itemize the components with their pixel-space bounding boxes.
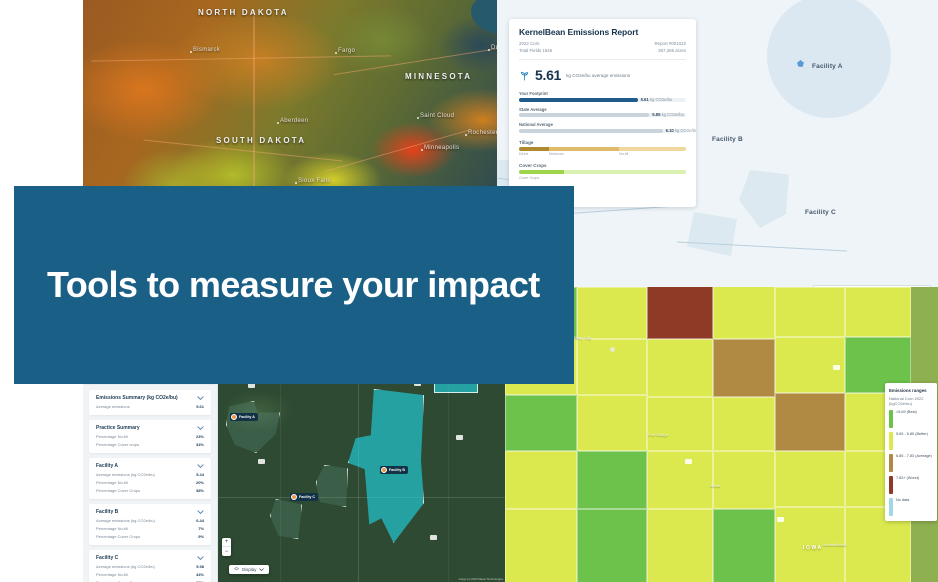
metric-label: Average emissions (kg CO2e/bu) — [96, 518, 155, 523]
state-label: NORTH DAKOTA — [198, 8, 289, 17]
metric-label: Percentage No-till — [96, 572, 128, 577]
report-acres: 367,285 acres — [658, 48, 686, 53]
chevron-down-icon[interactable] — [197, 426, 204, 430]
metric-label: Percentage Cover Crops — [96, 488, 140, 493]
benchmark-track: 6.10 kg CO2e/bu — [519, 129, 686, 133]
dashboard-card[interactable]: Practice SummaryPercentage No-till23%Per… — [89, 420, 211, 453]
card-title: Practice Summary — [96, 425, 140, 431]
county-polygon[interactable] — [505, 509, 577, 582]
map-attribution: Image (c) 2023 Maxar Technologies — [459, 577, 503, 581]
benchmark-label: National Average — [519, 122, 686, 127]
city-label: Ames — [710, 483, 720, 488]
county-polygon[interactable] — [775, 287, 845, 337]
county-polygon[interactable] — [647, 397, 713, 451]
emissions-legend: Emissions ranges National Corn 2022 (kgC… — [885, 383, 937, 521]
legend-title: Emissions ranges — [889, 388, 933, 394]
city-label: Sioux Falls — [298, 178, 331, 184]
county-polygon[interactable] — [713, 287, 775, 339]
card-metric-row: Average emissions (kg CO2e/bu)5.44 — [96, 472, 204, 477]
facility-label[interactable]: Facility C — [805, 209, 836, 216]
card-title: Facility A — [96, 463, 118, 469]
county-polygon[interactable] — [577, 287, 647, 339]
layers-icon — [234, 567, 239, 572]
tillage-segment-label: Direct — [519, 152, 549, 156]
city-dot — [421, 149, 423, 151]
pin-label: Facility B — [389, 468, 405, 472]
metric-value: 20% — [196, 480, 204, 485]
card-header[interactable]: Practice Summary — [96, 425, 204, 431]
hero-metric: 5.61 kg CO2e/bu average emissions — [519, 67, 686, 83]
card-metric-row: Average emissions5.61 — [96, 404, 204, 409]
field-outline-polygon[interactable] — [270, 499, 302, 539]
state-border-line — [253, 10, 255, 190]
banner-headline: Tools to measure your impact — [47, 265, 540, 305]
emissions-dashboard-panel[interactable]: Average Yield kg CO2e/bu Emissions Summa… — [83, 371, 218, 582]
county-shape — [687, 212, 737, 256]
facility-radius-circle — [767, 0, 891, 118]
facility-pin[interactable]: Facility A — [230, 413, 258, 421]
report-title: KernelBean Emissions Report — [519, 27, 686, 37]
hero-value: 5.61 — [535, 67, 561, 83]
city-dot — [465, 134, 467, 136]
cover-crops-legend: Cover Crops — [519, 176, 686, 180]
benchmark-track: 5.61 kg CO2e/bu — [519, 98, 686, 102]
legend-label: <5.69 (Best) — [896, 410, 917, 415]
city-dot — [295, 182, 297, 184]
benchmark-value: 6.10 kg CO2e/bu — [666, 128, 696, 133]
emissions-report-card[interactable]: KernelBean Emissions Report 2022 Corn Re… — [509, 19, 696, 207]
map-zoom-control[interactable]: + − — [222, 538, 231, 556]
county-polygon[interactable] — [775, 451, 845, 507]
dashboard-cards: Emissions Summary (kg CO2e/bu)Average em… — [83, 390, 217, 582]
tillage-title: Tillage — [519, 140, 686, 145]
metric-value: 5.98 — [196, 564, 204, 569]
metric-label: Percentage Cover crops — [96, 442, 139, 447]
county-polygon[interactable] — [647, 339, 713, 397]
legend-swatch — [889, 476, 893, 494]
county-polygon[interactable] — [577, 451, 647, 509]
card-header[interactable]: Emissions Summary (kg CO2e/bu) — [96, 395, 204, 401]
report-crop-year: 2022 Corn — [519, 41, 540, 46]
card-header[interactable]: Facility C — [96, 555, 204, 561]
county-polygon[interactable] — [647, 287, 713, 339]
county-polygon[interactable] — [505, 395, 577, 451]
field-outline-polygon[interactable] — [226, 401, 280, 453]
dashboard-card[interactable]: Facility CAverage emissions (kg CO2e/bu)… — [89, 550, 211, 582]
zoom-out-button[interactable]: − — [222, 547, 231, 556]
card-metric-row: Percentage No-till7% — [96, 526, 204, 531]
city-dot — [190, 51, 192, 53]
benchmark-label: State Average — [519, 107, 686, 112]
county-polygon[interactable] — [845, 287, 911, 337]
regional-emissions-heatmap[interactable]: NORTH DAKOTASOUTH DAKOTAMINNESOTAWISC Bi… — [83, 0, 497, 196]
city-label: Sioux City — [573, 335, 591, 340]
grid-line — [358, 371, 359, 582]
highway-shield-icon — [777, 517, 784, 522]
metric-label: Percentage Cover Crops — [96, 534, 140, 539]
county-polygon[interactable] — [713, 509, 775, 582]
legend-label: No data — [896, 498, 909, 503]
benchmark-label: Your Footprint — [519, 91, 686, 96]
tillage-segment-label: No-till — [619, 152, 686, 156]
report-total-fields: Total Fields 1846 — [519, 48, 552, 53]
dashboard-card[interactable]: Emissions Summary (kg CO2e/bu)Average em… — [89, 390, 211, 415]
state-label: MINNESOTA — [405, 72, 472, 81]
metric-label: Percentage No-till — [96, 480, 128, 485]
benchmark-bar-row: State Average5.85 kg CO2e/bu — [519, 107, 686, 118]
metric-value: 34% — [196, 442, 204, 447]
card-title: Facility B — [96, 509, 118, 515]
tillage-segment — [519, 147, 549, 151]
metric-value: 23% — [196, 434, 204, 439]
benchmark-fill — [519, 129, 663, 133]
metric-label: Average emissions — [96, 404, 130, 409]
tillage-segment — [549, 147, 619, 151]
legend-swatch — [889, 498, 893, 516]
benchmark-fill — [519, 113, 649, 117]
county-polygon[interactable] — [505, 451, 577, 509]
lake-superior-shape — [471, 0, 497, 34]
metric-label: Percentage No-till — [96, 434, 128, 439]
tillage-bar — [519, 147, 686, 151]
chevron-down-icon — [259, 568, 264, 571]
metric-value: 44% — [196, 572, 204, 577]
dashboard-card[interactable]: Facility BAverage emissions (kg CO2e/bu)… — [89, 504, 211, 545]
metric-label: Average emissions (kg CO2e/bu) — [96, 472, 155, 477]
benchmark-value: 5.85 kg CO2e/bu — [652, 112, 684, 117]
field-boundary-satellite-map[interactable]: Facility AFacility BFacility C + − Displ… — [218, 371, 505, 582]
card-metric-row: Percentage No-till44% — [96, 572, 204, 577]
cover-segment — [564, 170, 686, 174]
search-location-input[interactable]: Search location — [813, 285, 931, 287]
card-metric-row: Percentage No-till20% — [96, 480, 204, 485]
chevron-down-icon[interactable] — [197, 396, 204, 400]
city-dot — [417, 117, 419, 119]
legend-swatch — [889, 410, 893, 428]
tillage-legend: DirectMinimumNo-till — [519, 152, 686, 156]
facility-pin[interactable]: Facility B — [380, 466, 408, 474]
metric-value: 38% — [196, 488, 204, 493]
city-dot — [610, 347, 615, 352]
city-label: Fort Dodge — [648, 432, 668, 437]
tillage-segment — [619, 147, 686, 151]
report-number: Report #001022 — [655, 41, 687, 46]
display-label: Display — [242, 567, 256, 572]
city-label: Minneapolis — [424, 145, 459, 151]
pin-dot-icon — [381, 467, 387, 473]
county-polygon[interactable] — [577, 509, 647, 582]
facility-label[interactable]: Facility A — [812, 63, 843, 70]
highway-shield-icon — [456, 435, 463, 440]
city-dot — [335, 52, 337, 54]
divider — [519, 59, 686, 60]
cover-crops-bar — [519, 170, 686, 174]
cover-title: Cover Crops — [519, 163, 686, 168]
card-metric-row: Average emissions (kg CO2e/bu)5.98 — [96, 564, 204, 569]
cover-segment — [519, 170, 564, 174]
city-label: Bismarck — [193, 47, 220, 53]
promo-banner: Tools to measure your impact — [14, 186, 574, 384]
county-shape — [739, 170, 789, 228]
zoom-in-button[interactable]: + — [222, 538, 231, 547]
highway-shield-icon — [430, 535, 437, 540]
leaf-sprout-icon — [519, 70, 530, 81]
legend-items: <5.69 (Best)5.69 - 6.85 (Better)6.85 - 7… — [889, 410, 933, 516]
card-title: Facility C — [96, 555, 118, 561]
hero-unit: kg CO2e/bu average emissions — [566, 73, 630, 78]
city-label: Fargo — [338, 48, 355, 54]
county-polygon[interactable] — [647, 451, 713, 509]
benchmark-bar-row: National Average6.10 kg CO2e/bu — [519, 122, 686, 133]
legend-subtitle: National Corn 2022 (kgCO2e/bu) — [889, 396, 933, 406]
card-title: Emissions Summary (kg CO2e/bu) — [96, 395, 178, 401]
metric-value: 5.61 — [196, 404, 204, 409]
metric-value: 5.44 — [196, 472, 204, 477]
chevron-down-icon[interactable] — [197, 556, 204, 560]
pin-label: Facility A — [239, 415, 255, 419]
grid-line — [218, 497, 505, 498]
legend-label: 5.69 - 6.85 (Better) — [896, 432, 928, 437]
city-dot — [277, 122, 279, 124]
pin-label: Facility C — [299, 495, 315, 499]
legend-label: 6.85 - 7.83 (Average) — [896, 454, 932, 459]
benchmark-track: 5.85 kg CO2e/bu — [519, 113, 686, 117]
city-label: Rochester — [468, 130, 497, 136]
legend-item: No data — [889, 498, 933, 516]
legend-item: 5.69 - 6.85 (Better) — [889, 432, 933, 450]
facility-pin[interactable]: Facility C — [290, 493, 318, 501]
tillage-segment-label: Minimum — [549, 152, 619, 156]
city-dot — [488, 49, 490, 51]
highway-shield-icon — [258, 459, 265, 464]
county-polygon[interactable] — [647, 509, 713, 582]
county-polygon[interactable] — [713, 339, 775, 397]
legend-label: 7.83+ (Worst) — [896, 476, 919, 481]
highway-line — [91, 55, 391, 61]
card-metric-row: Average emissions (kg CO2e/bu)6.44 — [96, 518, 204, 523]
legend-swatch — [889, 454, 893, 472]
highway-shield-icon — [833, 365, 840, 370]
legend-item: 7.83+ (Worst) — [889, 476, 933, 494]
metric-value: 6.44 — [196, 518, 204, 523]
legend-item: <5.69 (Best) — [889, 410, 933, 428]
state-label: IOWA — [803, 545, 823, 551]
legend-item: 6.85 - 7.83 (Average) — [889, 454, 933, 472]
metric-value: 7% — [198, 526, 204, 531]
city-label: Saint Cloud — [420, 113, 454, 119]
legend-swatch — [889, 432, 893, 450]
benchmark-bars: Your Footprint5.61 kg CO2e/buState Avera… — [519, 91, 686, 133]
card-metric-row: Percentage No-till23% — [96, 434, 204, 439]
city-label: Marshalltown — [823, 542, 847, 547]
field-outline-polygon[interactable] — [316, 465, 348, 507]
highway-line — [334, 46, 497, 75]
metric-label: Percentage No-till — [96, 526, 128, 531]
county-polygon[interactable] — [775, 393, 845, 451]
metric-value: 9% — [198, 534, 204, 539]
cover-segment-label: Cover Crops — [519, 176, 564, 180]
chevron-down-icon[interactable] — [197, 464, 204, 468]
highway-shield-icon — [685, 459, 692, 464]
benchmark-fill — [519, 98, 638, 102]
chevron-down-icon[interactable] — [197, 510, 204, 514]
card-header[interactable]: Facility B — [96, 509, 204, 515]
county-polygon[interactable] — [577, 395, 647, 451]
facility-label[interactable]: Facility B — [712, 136, 743, 143]
county-polygon[interactable] — [713, 451, 775, 509]
dashboard-card[interactable]: Facility AAverage emissions (kg CO2e/bu)… — [89, 458, 211, 499]
benchmark-bar-row: Your Footprint5.61 kg CO2e/bu — [519, 91, 686, 102]
metric-label: Average emissions (kg CO2e/bu) — [96, 564, 155, 569]
cover-segment-label — [564, 176, 686, 180]
state-label: SOUTH DAKOTA — [216, 136, 306, 145]
card-metric-row: Percentage Cover Crops9% — [96, 534, 204, 539]
county-polygon[interactable] — [713, 397, 775, 451]
grid-line — [448, 371, 449, 582]
card-metric-row: Percentage Cover Crops38% — [96, 488, 204, 493]
city-label: Aberdeen — [280, 118, 308, 124]
promo-composite: NORTH DAKOTASOUTH DAKOTAMINNESOTAWISC Bi… — [0, 0, 938, 582]
card-metric-row: Percentage Cover crops34% — [96, 442, 204, 447]
benchmark-value: 5.61 kg CO2e/bu — [641, 97, 673, 102]
pin-dot-icon — [291, 494, 297, 500]
card-header[interactable]: Facility A — [96, 463, 204, 469]
display-dropdown-button[interactable]: Display — [229, 565, 269, 574]
pin-dot-icon — [231, 414, 237, 420]
grid-line — [280, 371, 281, 582]
